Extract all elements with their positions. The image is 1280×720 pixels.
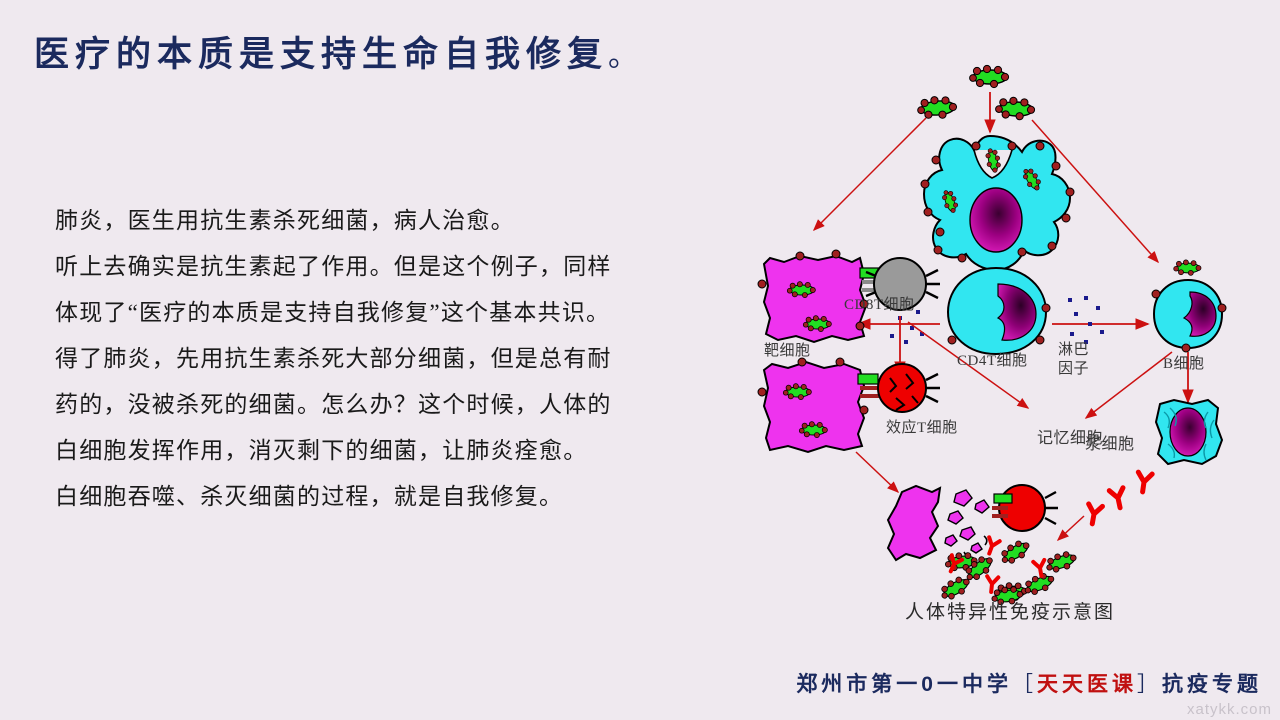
plasma-cell xyxy=(1156,400,1222,464)
footer-topic: 抗疫专题 xyxy=(1162,673,1262,696)
body-line: 白细胞发挥作用，消灭剩下的细菌，让肺炎痊愈。 xyxy=(55,428,705,474)
arrow-antigen-to-target-cell xyxy=(814,118,926,230)
label-effector-t-cell: 效应T细胞 xyxy=(886,416,958,437)
macrophage-cell xyxy=(921,136,1074,270)
antibody-3 xyxy=(1085,504,1102,525)
body-line: 听上去确实是抗生素起了作用。但是这个例子，同样 xyxy=(55,244,705,290)
label-lymphokine-line2: 因子 xyxy=(1058,357,1089,378)
lysed-target-cell xyxy=(888,486,989,562)
footer-bracket-close: ］ xyxy=(1137,673,1162,696)
immunity-diagram: 靶细胞 CD8T细胞 CD4T细胞 淋巴 因子 B细胞 记忆细胞 浆细胞 效应T… xyxy=(740,40,1240,630)
arrow-antibody-to-antigen xyxy=(1058,516,1084,540)
watermark: xatykk.com xyxy=(1187,701,1272,718)
label-cd4t-cell: CD4T细胞 xyxy=(957,349,1028,370)
page-title-text: 医疗的本质是支持生命自我修复 xyxy=(34,35,608,74)
label-plasma-cell: 浆细胞 xyxy=(1085,430,1135,454)
arrow-to-lysed-cell xyxy=(856,452,898,492)
effector-t-cell-lower xyxy=(992,485,1058,531)
antigen-top-left xyxy=(917,95,957,120)
body-line: 肺炎，医生用抗生素杀死细菌，病人治愈。 xyxy=(55,198,705,244)
lymphokine-dots-right xyxy=(1068,296,1104,344)
footer-bar: 郑州市第一0一中学［天天医课］抗疫专题 xyxy=(0,668,1280,698)
effector-t-cell xyxy=(878,364,940,412)
immunity-diagram-svg xyxy=(740,40,1240,630)
diagram-caption: 人体特异性免疫示意图 xyxy=(905,597,1115,624)
antigen-top-center xyxy=(970,65,1009,87)
body-line: 药的，没被杀死的细菌。怎么办？这个时候，人体的 xyxy=(55,382,705,428)
label-target-cell: 靶细胞 xyxy=(764,339,811,360)
footer-program: 天天医课 xyxy=(1037,673,1137,696)
body-paragraph: 肺炎，医生用抗生素杀死细菌，病人治愈。 听上去确实是抗生素起了作用。但是这个例子… xyxy=(55,198,705,520)
slide-root: 医疗的本质是支持生命自我修复。 肺炎，医生用抗生素杀死细菌，病人治愈。 听上去确… xyxy=(0,0,1280,720)
footer-school: 郑州市第一0一中学 xyxy=(796,673,1012,696)
antibody-2 xyxy=(1109,488,1127,509)
footer-bracket-open: ［ xyxy=(1012,673,1037,696)
body-line: 白细胞吞噬、杀灭细菌的过程，就是自我修复。 xyxy=(55,474,705,520)
b-cell xyxy=(1152,260,1226,352)
page-title-period: 。 xyxy=(608,40,638,73)
body-line: 体现了“医疗的本质是支持自我修复”这个基本共识。 xyxy=(55,290,705,336)
cd4t-cell xyxy=(948,268,1050,354)
page-title: 医疗的本质是支持生命自我修复。 xyxy=(34,26,638,77)
antigen-top-right xyxy=(995,96,1035,120)
label-b-cell: B细胞 xyxy=(1163,352,1205,373)
label-cd8t-cell: CD8T细胞 xyxy=(844,293,915,314)
target-cell-lower xyxy=(758,358,880,452)
body-line: 得了肺炎，先用抗生素杀死大部分细菌，但是总有耐 xyxy=(55,336,705,382)
antibody-1 xyxy=(1136,472,1153,493)
label-lymphokine-line1: 淋巴 xyxy=(1058,338,1089,359)
